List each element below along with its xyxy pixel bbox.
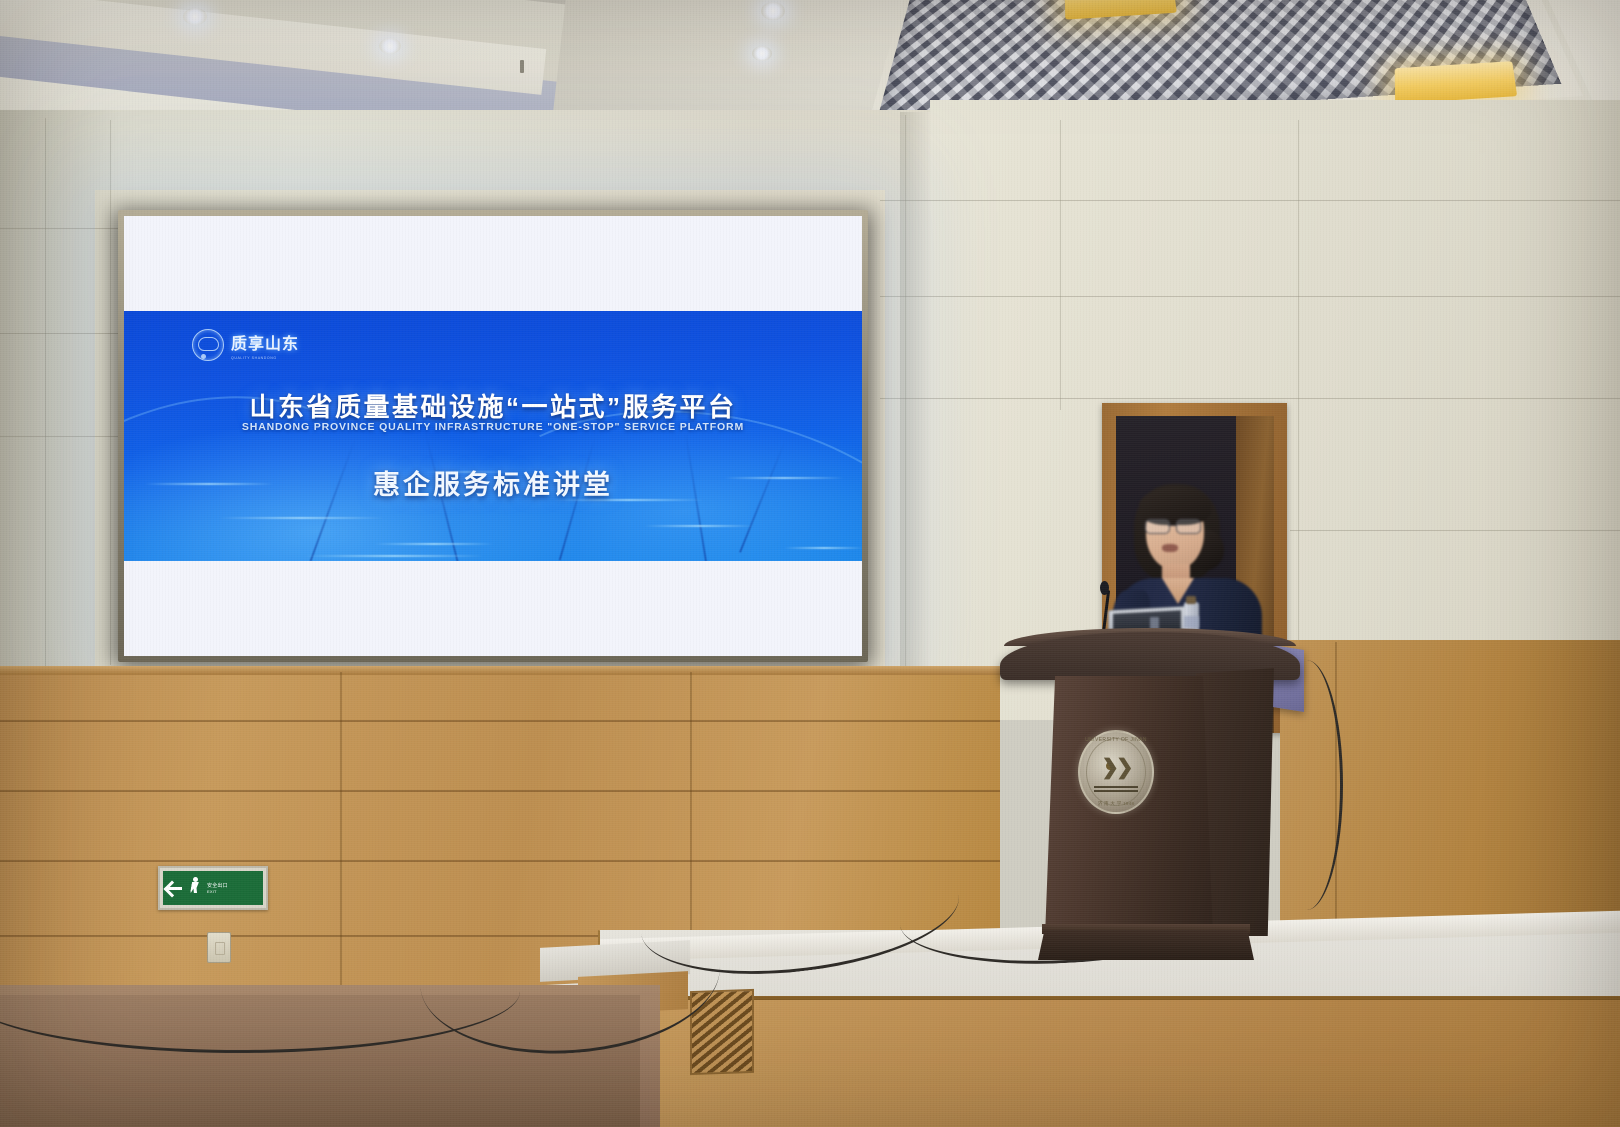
quality-emblem-icon (192, 329, 224, 361)
wainscot-line (0, 720, 1000, 722)
ceiling-downlight (183, 8, 207, 25)
slide-logo: 质享山东 QUALITY SHANDONG (192, 329, 299, 361)
wall-panel-seam (45, 118, 46, 668)
wall-panel-seam (1060, 120, 1061, 410)
wall-panel-seam (1298, 120, 1299, 640)
ceiling-downlight (761, 2, 785, 20)
seal-bottom-text: 济 南 大 学 1948 (1080, 801, 1152, 807)
slide-headline: 惠企服务标准讲堂 (124, 463, 862, 502)
wall-shading (0, 110, 120, 700)
eyeglasses-icon (1145, 519, 1203, 533)
seal-bars-icon (1094, 786, 1138, 793)
slide-logo-text: 质享山东 (231, 330, 299, 354)
exit-sign-label-en: EXIT (207, 889, 228, 894)
mouth (1162, 544, 1178, 552)
wall-panel-seam (0, 333, 120, 334)
wainscot-line (0, 790, 1000, 792)
seal-top-text: UNIVERSITY OF JINAN (1080, 737, 1152, 743)
wall-panel-seam (905, 115, 906, 675)
ceiling-downlight (752, 46, 772, 61)
slide-canvas: 质享山东 QUALITY SHANDONG 山东省质量基础设施“一站式”服务平台… (124, 311, 862, 561)
microphone-icon (1100, 581, 1109, 595)
wall-panel-seam (1290, 530, 1620, 531)
lectern-base (1038, 930, 1254, 960)
arrow-left-icon (166, 879, 185, 898)
sprinkler-head-icon (520, 60, 524, 73)
slide-subtitle: SHANDONG PROVINCE QUALITY INFRASTRUCTURE… (124, 421, 862, 433)
bottle-label (1184, 616, 1199, 628)
wall-panel-seam (0, 436, 118, 437)
seal-chevron-icon: ❯❯ (1101, 758, 1130, 778)
wainscot-top-rail (0, 666, 1000, 675)
ceiling-downlight (379, 38, 401, 54)
emergency-exit-sign: 安全出口 EXIT (158, 866, 268, 910)
slide-logo-subtext: QUALITY SHANDONG (231, 356, 299, 360)
screen-letterbox-bottom (124, 561, 862, 656)
slide-title: 山东省质量基础设施“一站式”服务平台 (124, 387, 862, 424)
wall-panel-seam (880, 200, 1620, 201)
presentation-screen[interactable]: 质享山东 QUALITY SHANDONG 山东省质量基础设施“一站式”服务平台… (118, 210, 868, 662)
screen-letterbox-top (124, 216, 862, 311)
university-seal: UNIVERSITY OF JINAN ❯❯ 济 南 大 学 1948 (1078, 730, 1154, 814)
wall-panel-seam (880, 296, 1620, 297)
bottle-cap (1186, 596, 1196, 604)
wall-panel-seam (880, 398, 1620, 399)
running-person-icon (188, 877, 203, 899)
conference-hall-photo: 质享山东 QUALITY SHANDONG 山东省质量基础设施“一站式”服务平台… (0, 0, 1620, 1127)
